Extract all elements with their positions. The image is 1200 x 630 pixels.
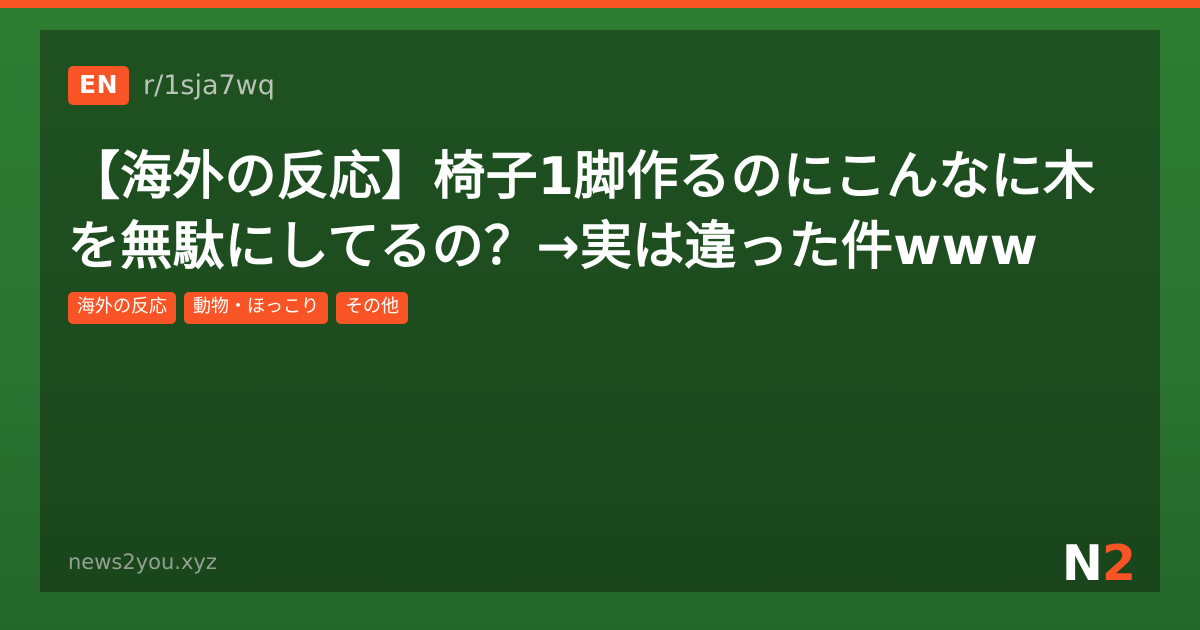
- tag-chip: 海外の反応: [68, 292, 176, 324]
- brand-logo: N2: [1062, 539, 1135, 588]
- content-panel: EN r/1sja7wq 【海外の反応】椅子1脚作るのにこんなに木を無駄にしてる…: [40, 30, 1160, 592]
- language-badge: EN: [68, 66, 129, 105]
- meta-row: EN r/1sja7wq: [68, 66, 275, 105]
- tag-chip: その他: [336, 292, 408, 324]
- source-label: r/1sja7wq: [143, 72, 275, 99]
- tag-list: 海外の反応 動物・ほっこり その他: [68, 292, 408, 324]
- page-title: 【海外の反応】椅子1脚作るのにこんなに木を無駄にしてるの？→実は違った件www: [68, 142, 1130, 282]
- brand-logo-letter: N: [1062, 535, 1102, 592]
- brand-logo-digit: 2: [1102, 535, 1135, 592]
- tag-chip: 動物・ほっこり: [184, 292, 328, 324]
- og-image-card: EN r/1sja7wq 【海外の反応】椅子1脚作るのにこんなに木を無駄にしてる…: [0, 0, 1200, 630]
- top-accent-bar: [0, 0, 1200, 8]
- site-url-label: news2you.xyz: [68, 552, 217, 573]
